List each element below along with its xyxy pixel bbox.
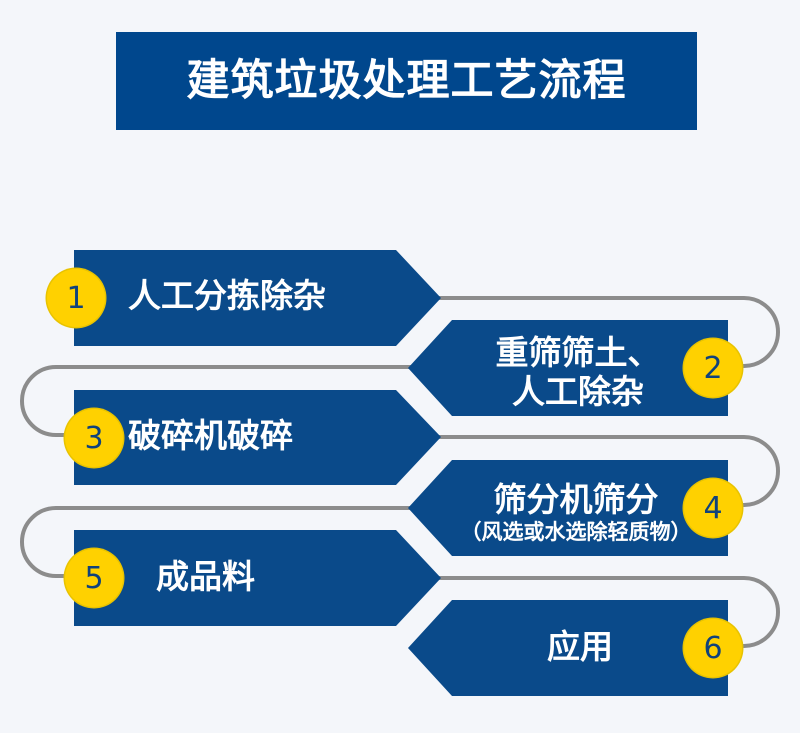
step-shape-6[interactable] [408, 600, 728, 696]
step-shape-2[interactable] [408, 320, 728, 416]
step-shape-1[interactable] [74, 250, 441, 346]
step-shape-3[interactable] [74, 390, 441, 485]
step-shape-5[interactable] [74, 530, 441, 626]
step-badge-6[interactable]: 6 [684, 619, 742, 677]
step-badge-4[interactable]: 4 [684, 479, 742, 537]
step-shape-4[interactable] [408, 460, 728, 556]
step-badge-1[interactable]: 1 [47, 269, 105, 327]
step-badge-3[interactable]: 3 [65, 409, 123, 467]
step-badge-2[interactable]: 2 [684, 339, 742, 397]
flowchart-page: 建筑垃圾处理工艺流程 [0, 0, 800, 733]
step-badge-5[interactable]: 5 [65, 549, 123, 607]
flow-diagram-canvas [0, 0, 800, 733]
